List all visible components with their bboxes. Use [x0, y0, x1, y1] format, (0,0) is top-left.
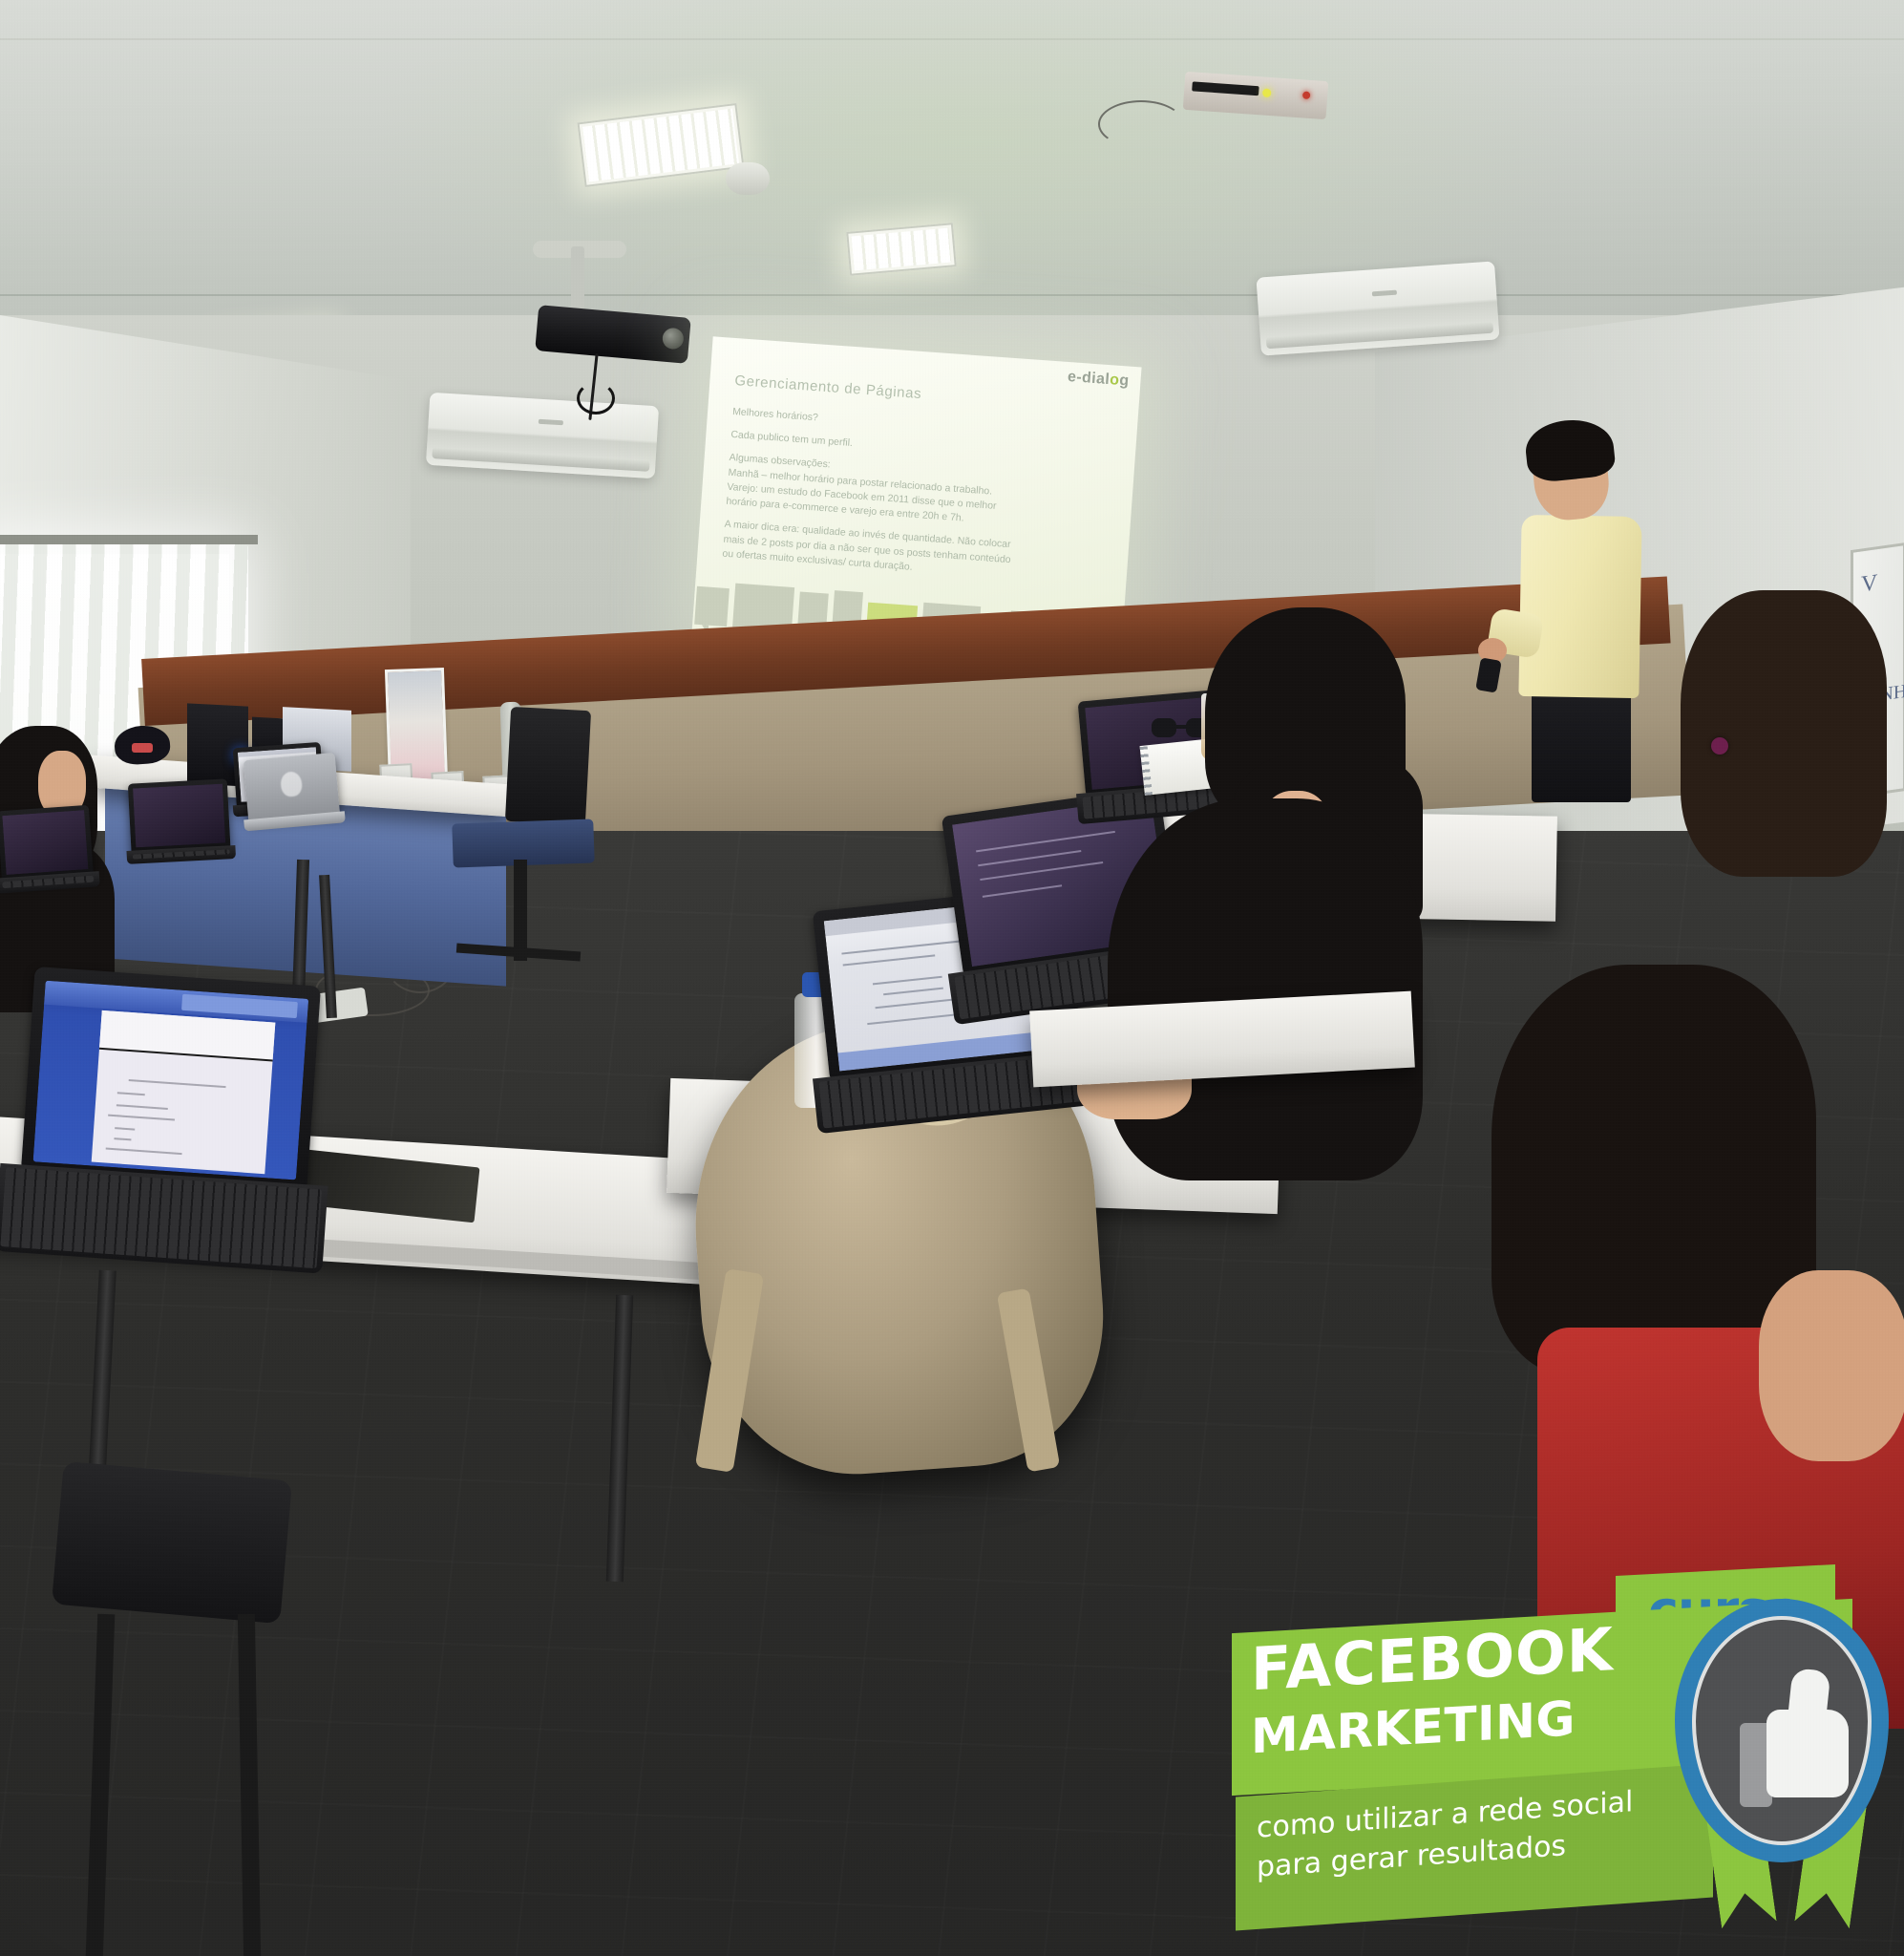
macbook[interactable]	[243, 753, 341, 835]
ceiling-seam	[0, 38, 1904, 40]
projector-cable-loop	[577, 382, 615, 415]
badge-seal	[1665, 1591, 1900, 1927]
seal-gray-face	[1692, 1616, 1872, 1845]
document-window	[91, 1010, 275, 1174]
slide-body: Melhores horários? Cada publico tem um p…	[721, 405, 1113, 597]
projector-lens	[662, 328, 685, 351]
classroom-photo: e-dialog Gerenciamento de Páginas Melhor…	[0, 0, 1904, 1956]
ceiling-cable	[1098, 100, 1184, 148]
presenter-shirt	[1518, 515, 1641, 698]
presenter-trousers	[1532, 680, 1631, 802]
smoke-detector	[726, 162, 770, 195]
air-conditioner-unit	[426, 393, 659, 479]
laptop[interactable]	[128, 778, 231, 865]
projector-mount	[571, 246, 584, 315]
ceiling-light-panel	[846, 223, 957, 276]
student-arm	[1759, 1270, 1904, 1461]
cap-logo	[132, 743, 153, 753]
curtain-rod	[0, 535, 258, 544]
apple-logo-icon	[280, 772, 303, 798]
student-hair	[1108, 798, 1423, 1180]
laptop-foreground-left[interactable]	[15, 967, 321, 1272]
slide-title: Gerenciamento de Páginas	[734, 372, 922, 402]
ceiling-seam	[0, 294, 1904, 296]
thumbs-up-icon	[1740, 1669, 1862, 1813]
ap-led-red	[1302, 91, 1311, 99]
slide-bubble-shape	[694, 586, 730, 627]
ap-antenna	[1192, 81, 1259, 96]
laptop-screen	[33, 981, 309, 1180]
student-hair	[1681, 590, 1887, 877]
laptop[interactable]	[0, 805, 95, 897]
edialog-logo: e-dialog	[1067, 369, 1130, 391]
air-conditioner-unit	[1256, 261, 1499, 355]
whiteboard-ink: V	[1861, 570, 1877, 598]
ap-led-yellow	[1262, 89, 1272, 98]
course-badge-overlay: curso FACEBOOK MARKETING como utilizar a…	[1176, 1511, 1904, 1956]
earring	[1711, 737, 1728, 755]
